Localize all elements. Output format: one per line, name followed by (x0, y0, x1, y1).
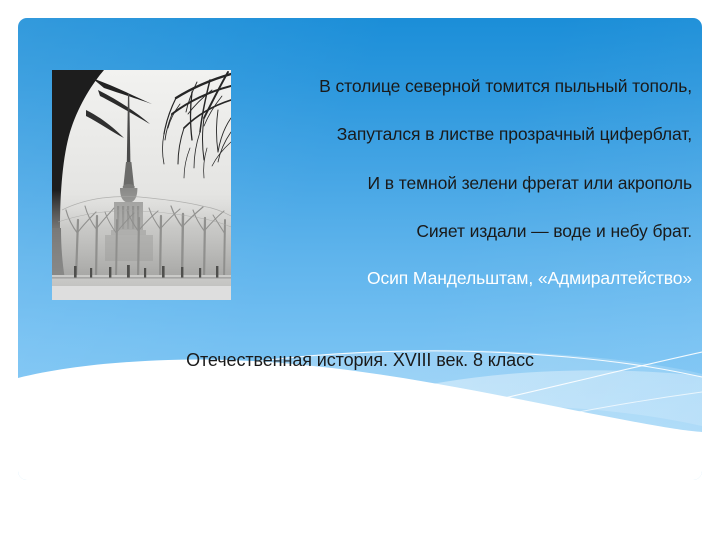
quote-line-4: Сияет издали — воде и небу брат. (240, 223, 692, 241)
quote-text-block: В столице северной томится пыльный топол… (240, 78, 692, 288)
quote-line-1: В столице северной томится пыльный топол… (240, 78, 692, 96)
presentation-slide: В столице северной томится пыльный топол… (0, 0, 720, 540)
slide-subtitle: Отечественная история. XVIII век. 8 клас… (18, 350, 702, 371)
slide-blue-panel: В столице северной томится пыльный топол… (18, 18, 702, 480)
quote-attribution: Осип Мандельштам, «Адмиралтейство» (240, 270, 692, 288)
quote-line-2: Запутался в листве прозрачный циферблат, (240, 126, 692, 144)
admiralty-spire-photo (52, 70, 231, 300)
quote-line-3: И в темной зелени фрегат или акрополь (240, 175, 692, 193)
